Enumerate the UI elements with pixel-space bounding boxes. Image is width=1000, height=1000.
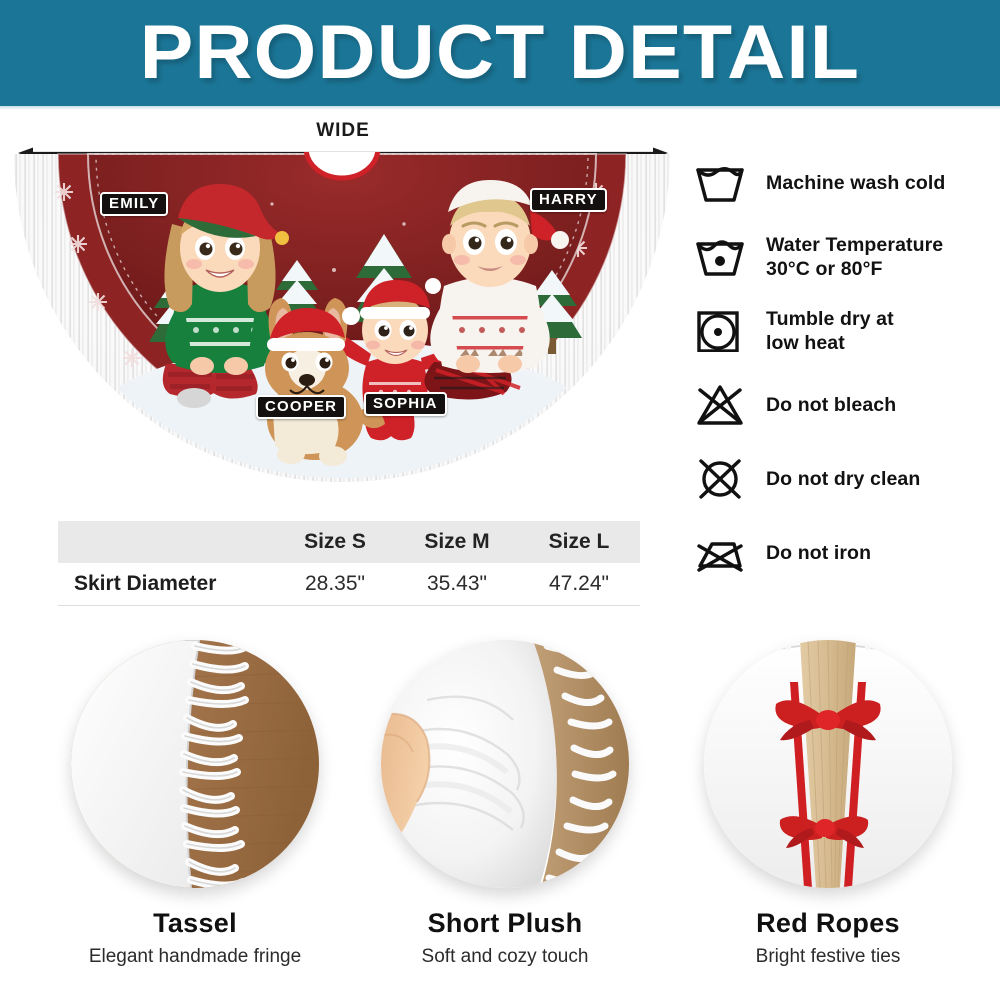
feature-title-tassel: Tassel <box>45 908 345 939</box>
feature-subtitle-tassel: Elegant handmade fringe <box>45 946 345 968</box>
care-item-water-temperature: Water Temperature 30°C or 80°F <box>694 220 994 294</box>
care-item-do-not-bleach: Do not bleach <box>694 368 994 442</box>
name-tag-cooper: COOPER <box>256 395 346 419</box>
table-row: Skirt Diameter 28.35" 35.43" 47.24" <box>58 563 640 606</box>
cell-size-s: 28.35" <box>274 563 396 606</box>
page-title: PRODUCT DETAIL <box>140 15 860 91</box>
care-label-tumble-dry-line1: Tumble dry at <box>766 307 894 331</box>
care-label-water-temperature-line1: Water Temperature <box>766 233 943 257</box>
machine-wash-icon <box>694 158 750 208</box>
do-not-iron-icon <box>694 528 750 578</box>
name-tag-harry: HARRY <box>530 188 607 212</box>
name-tag-sophia: SOPHIA <box>364 392 447 416</box>
care-item-do-not-iron: Do not iron <box>694 516 994 590</box>
care-item-do-not-dry-clean: Do not dry clean <box>694 442 994 516</box>
do-not-bleach-icon <box>694 380 750 430</box>
table-header-size-l: Size L <box>518 521 640 563</box>
hand-pressing-plush-closeup <box>381 640 629 888</box>
size-table: Size S Size M Size L Skirt Diameter 28.3… <box>58 521 640 606</box>
feature-tassel: Tassel Elegant handmade fringe <box>45 640 345 968</box>
feature-subtitle-short-plush: Soft and cozy touch <box>355 946 655 968</box>
tassel-fringe-closeup <box>71 640 319 888</box>
table-header-size-m: Size M <box>396 521 518 563</box>
water-temperature-icon <box>694 232 750 282</box>
care-instructions-list: Machine wash cold Water Temperature 30°C… <box>694 146 994 590</box>
care-label-do-not-dry-clean: Do not dry clean <box>766 467 920 491</box>
feature-short-plush: Short Plush Soft and cozy touch <box>355 640 655 968</box>
name-tag-emily: EMILY <box>100 192 168 216</box>
row-label-skirt-diameter: Skirt Diameter <box>58 563 274 606</box>
care-label-water-temperature: Water Temperature 30°C or 80°F <box>766 233 943 282</box>
care-label-do-not-iron: Do not iron <box>766 541 871 565</box>
care-label-water-temperature-line2: 30°C or 80°F <box>766 257 943 281</box>
care-item-machine-wash: Machine wash cold <box>694 146 994 220</box>
do-not-dry-clean-icon <box>694 454 750 504</box>
red-ribbon-ties-closeup <box>704 640 952 888</box>
cell-size-m: 35.43" <box>396 563 518 606</box>
banner-underline <box>0 106 1000 110</box>
care-label-do-not-bleach: Do not bleach <box>766 393 896 417</box>
header-banner: PRODUCT DETAIL <box>0 0 1000 106</box>
table-header-row: Size S Size M Size L <box>58 521 640 563</box>
table-header-blank <box>58 521 274 563</box>
product-image: EMILY HARRY COOPER SOPHIA <box>12 152 672 500</box>
feature-title-red-ropes: Red Ropes <box>678 908 978 939</box>
feature-subtitle-red-ropes: Bright festive ties <box>678 946 978 968</box>
care-label-tumble-dry-line2: low heat <box>766 331 894 355</box>
width-label: WIDE <box>18 120 668 142</box>
table-header-size-s: Size S <box>274 521 396 563</box>
feature-title-short-plush: Short Plush <box>355 908 655 939</box>
feature-red-ropes: Red Ropes Bright festive ties <box>678 640 978 968</box>
tumble-dry-low-icon <box>694 306 750 356</box>
care-label-machine-wash: Machine wash cold <box>766 171 945 195</box>
cell-size-l: 47.24" <box>518 563 640 606</box>
care-label-tumble-dry: Tumble dry at low heat <box>766 307 894 356</box>
care-item-tumble-dry: Tumble dry at low heat <box>694 294 994 368</box>
